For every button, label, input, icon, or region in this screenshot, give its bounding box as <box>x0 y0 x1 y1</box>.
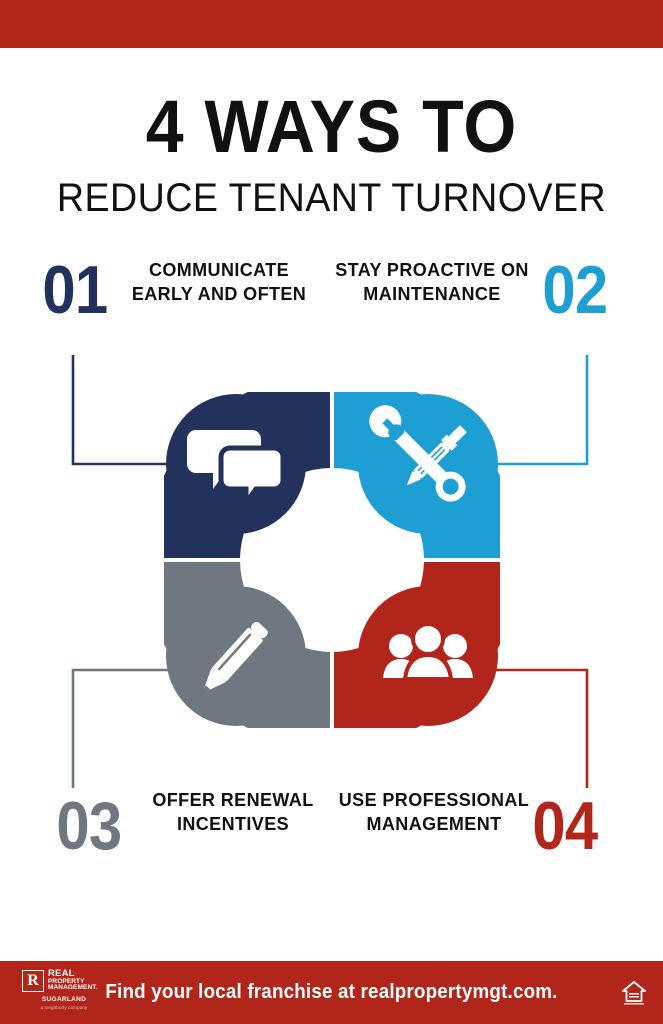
logo-line-management: MANAGEMENT. <box>48 985 98 992</box>
logo-wordmark: REAL PROPERTY MANAGEMENT. <box>48 969 98 992</box>
logo-tagline: a neighborly company <box>24 1005 104 1010</box>
title-block: 4 WAYS TO REDUCE TENANT TURNOVER <box>0 92 663 218</box>
page-title: 4 WAYS TO <box>27 92 637 162</box>
step-label-02: STAY PROACTIVE ON MAINTENANCE <box>334 258 530 307</box>
logo-r-mark: R <box>22 970 44 992</box>
equal-housing-opportunity-icon <box>621 978 647 1006</box>
step-number-02: 02 <box>542 256 607 324</box>
logo-location: SUGARLAND <box>24 996 104 1003</box>
top-red-banner <box>0 0 663 48</box>
page-subtitle: REDUCE TENANT TURNOVER <box>20 178 643 218</box>
step-label-01: COMMUNICATE EARLY AND OFTEN <box>124 258 314 307</box>
step-number-04: 04 <box>532 792 597 860</box>
footer-message: Find your local franchise at realpropert… <box>20 961 643 1024</box>
cycle-diagram <box>120 368 544 752</box>
step-number-01: 01 <box>42 256 107 324</box>
step-label-03: OFFER RENEWAL INCENTIVES <box>140 788 326 837</box>
step-label-04: USE PROFESSIONAL MANAGEMENT <box>336 788 532 837</box>
step-number-03: 03 <box>56 792 121 860</box>
